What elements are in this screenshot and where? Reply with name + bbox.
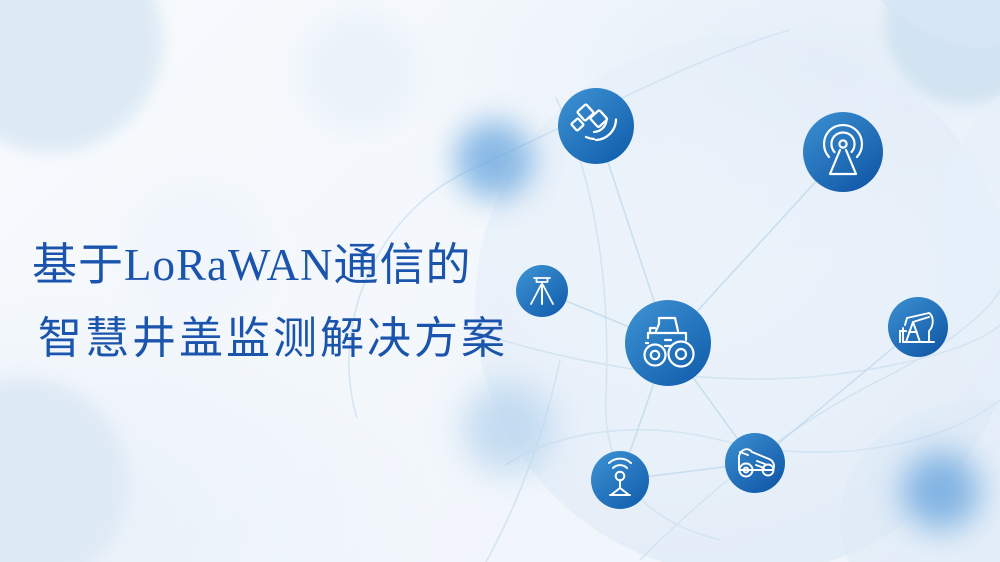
title-line-1: 基于LoRaWAN通信的 <box>32 228 592 302</box>
accent-dot-left-upper <box>455 121 533 199</box>
title-block: 基于LoRaWAN通信的 智慧井盖监测解决方案 <box>32 228 592 376</box>
accent-dot-left-lower <box>462 382 554 474</box>
title-line-2: 智慧井盖监测解决方案 <box>32 302 592 376</box>
accent-dot-bottom-right <box>902 452 980 530</box>
slide-canvas: 基于LoRaWAN通信的 智慧井盖监测解决方案 <box>0 0 1000 562</box>
